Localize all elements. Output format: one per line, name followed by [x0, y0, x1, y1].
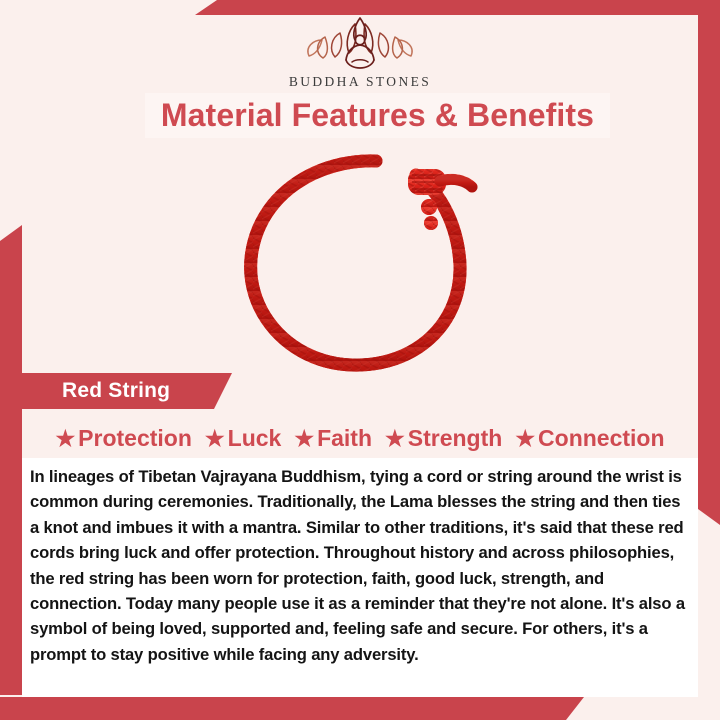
- frame-band-top: [195, 0, 720, 15]
- benefit-luck: ★ Luck: [205, 425, 281, 452]
- benefits-row: ★ Protection ★ Luck ★ Faith ★ Strength ★…: [22, 419, 698, 458]
- star-icon: ★: [515, 428, 535, 450]
- brand-name: BUDDHA STONES: [289, 74, 431, 90]
- benefit-strength: ★ Strength: [385, 425, 502, 452]
- product-feature-poster: BUDDHA STONES Material Features & Benefi…: [0, 0, 720, 720]
- red-string-bracelet-image: [226, 151, 494, 377]
- benefit-faith: ★ Faith: [294, 425, 372, 452]
- product-label-banner: Red String: [0, 373, 232, 409]
- star-icon: ★: [205, 428, 225, 450]
- product-label: Red String: [62, 379, 170, 403]
- benefit-protection: ★ Protection: [55, 425, 191, 452]
- description-text: In lineages of Tibetan Vajrayana Buddhis…: [30, 464, 686, 667]
- page-title: Material Features & Benefits: [161, 97, 594, 134]
- star-icon: ★: [55, 428, 75, 450]
- star-icon: ★: [294, 428, 314, 450]
- benefit-label: Strength: [408, 425, 503, 452]
- lotus-meditation-icon: [300, 14, 420, 72]
- title-banner: Material Features & Benefits: [145, 93, 610, 138]
- brand-header: BUDDHA STONES: [0, 14, 720, 90]
- benefit-connection: ★ Connection: [515, 425, 664, 452]
- benefit-label: Luck: [228, 425, 282, 452]
- frame-band-bottom: [0, 697, 584, 720]
- product-photo: [22, 150, 698, 378]
- description-card: In lineages of Tibetan Vajrayana Buddhis…: [22, 458, 698, 697]
- benefit-label: Faith: [317, 425, 372, 452]
- star-icon: ★: [385, 428, 405, 450]
- frame-band-left: [0, 225, 22, 695]
- benefit-label: Connection: [538, 425, 665, 452]
- benefit-label: Protection: [78, 425, 192, 452]
